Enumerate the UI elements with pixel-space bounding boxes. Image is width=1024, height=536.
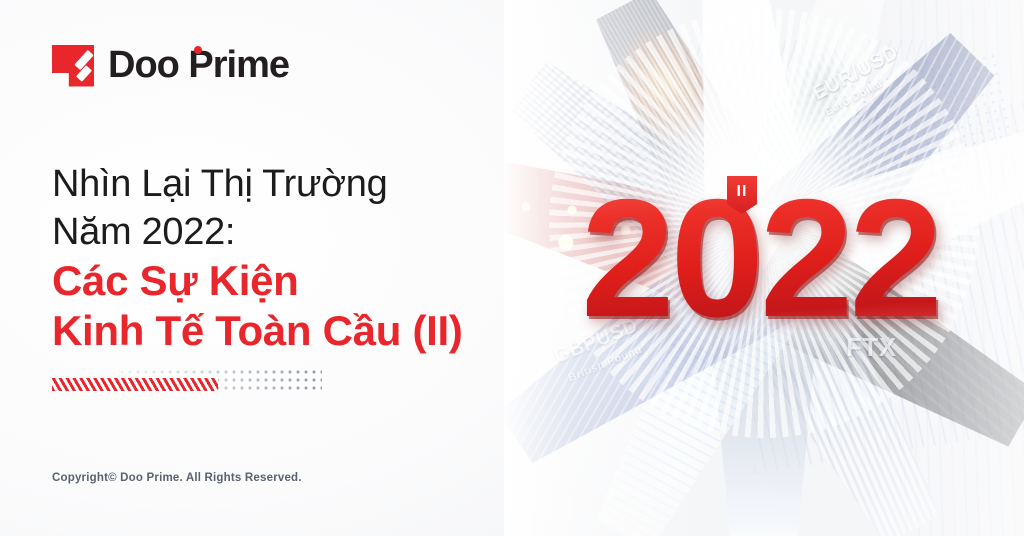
headline-line-3: Các Sự Kiện: [52, 256, 522, 306]
headline-line-2: Năm 2022:: [52, 208, 522, 256]
year-2022-text: 2022: [520, 178, 1000, 338]
logo-accent-dot-icon: [194, 46, 202, 54]
headline-line-1: Nhìn Lại Thị Trường: [52, 160, 522, 208]
doo-prime-logo-mark-icon: [52, 45, 94, 87]
headline-line-4: Kinh Tế Toàn Cầu (II): [52, 306, 522, 356]
doo-prime-logo[interactable]: Doo Prime: [52, 44, 289, 87]
divider-hatch-bar: [52, 378, 218, 391]
doo-prime-logo-text: Doo Prime: [108, 44, 289, 87]
headline-block: Nhìn Lại Thị Trường Năm 2022: Các Sự Kiệ…: [52, 160, 522, 356]
part-two-badge-label: II: [737, 184, 748, 200]
year-artwork: 2022 2022: [520, 178, 1000, 338]
decorative-divider: [52, 368, 322, 394]
copyright-text: Copyright© Doo Prime. All Rights Reserve…: [52, 472, 302, 484]
banner-root: EUR/USD Euro Dollar GBPUSD British Pound…: [0, 0, 1024, 536]
